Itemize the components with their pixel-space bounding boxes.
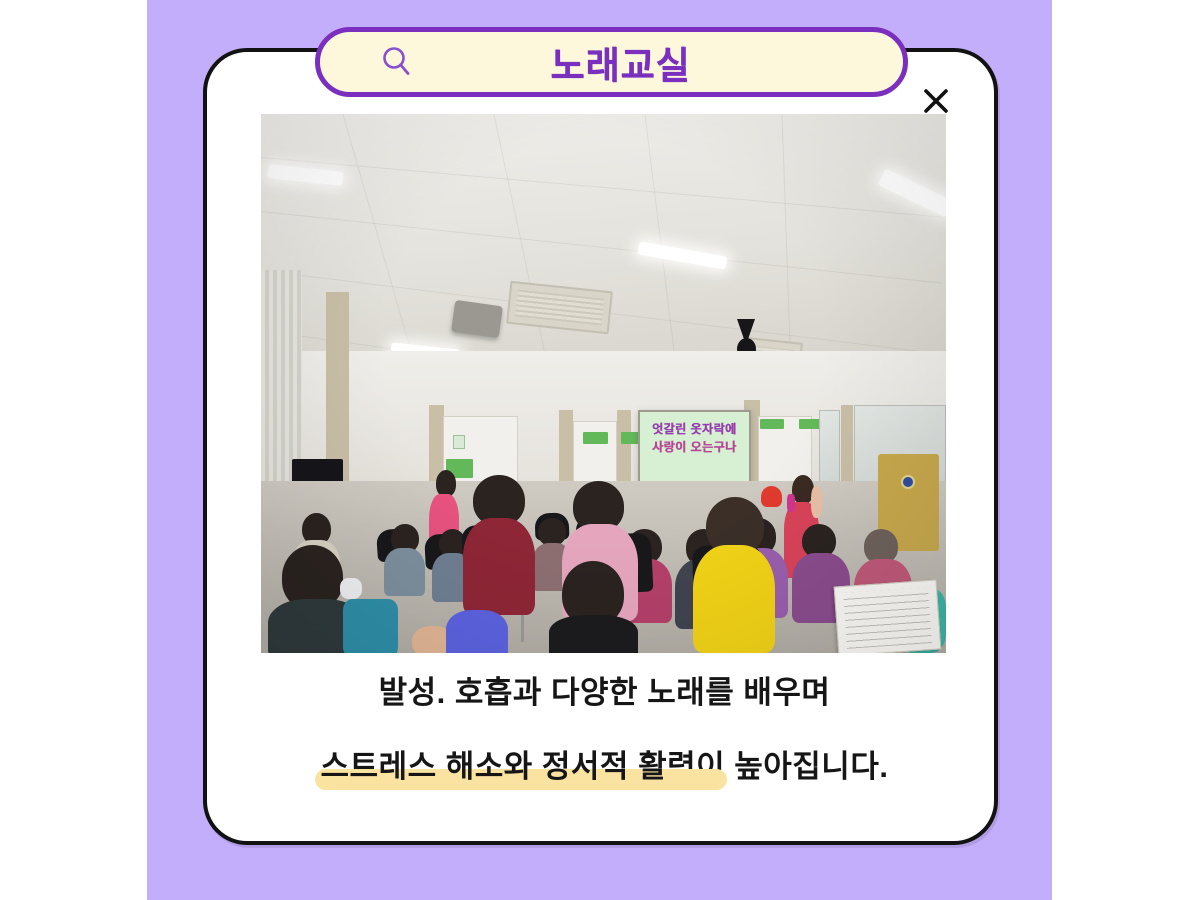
close-button[interactable] <box>917 82 955 120</box>
audience-body <box>384 548 425 597</box>
ceiling-projector <box>451 299 503 338</box>
caption-line-1: 발성. 호흡과 다양한 노래를 배우며 <box>237 677 972 708</box>
audience-body <box>343 599 398 653</box>
caption-line-2: 스트레스 해소와 정서적 활 력이 높아집니다. <box>237 751 972 782</box>
microphone <box>787 494 795 512</box>
title-search-pill[interactable]: 노래교실 <box>315 27 908 97</box>
page-root: 엇갈린 옷자락에 사랑이 오는구나 <box>0 0 1200 900</box>
audience-body <box>693 545 775 653</box>
class-photo: 엇갈린 옷자락에 사랑이 오는구나 <box>261 114 946 653</box>
exit-sign <box>453 435 465 449</box>
door-sign <box>799 419 821 430</box>
highlighted-phrase: 스트레스 해소와 정서적 활 <box>321 751 668 782</box>
caption-block: 발성. 호흡과 다양한 노래를 배우며 스트레스 해소와 정서적 활 력이 높아… <box>237 677 972 782</box>
singer-arm <box>811 486 822 518</box>
door-sign <box>583 432 608 444</box>
content-card: 엇갈린 옷자락에 사랑이 오는구나 <box>203 48 998 845</box>
audience-body <box>549 615 638 653</box>
photo-scene: 엇갈린 옷자락에 사랑이 오는구나 <box>261 114 946 653</box>
red-hat <box>761 486 782 508</box>
face-mask <box>340 578 362 600</box>
instructor-head <box>436 470 457 497</box>
close-icon <box>921 86 951 116</box>
screen-lyric-line-2: 사랑이 오는구나 <box>640 438 749 456</box>
songbook <box>834 579 941 653</box>
audience-body <box>446 610 508 653</box>
door-sign <box>760 419 785 430</box>
search-icon[interactable] <box>378 43 416 81</box>
audience-body <box>463 518 535 615</box>
screen-lyric-line-1: 엇갈린 옷자락에 <box>640 420 749 438</box>
